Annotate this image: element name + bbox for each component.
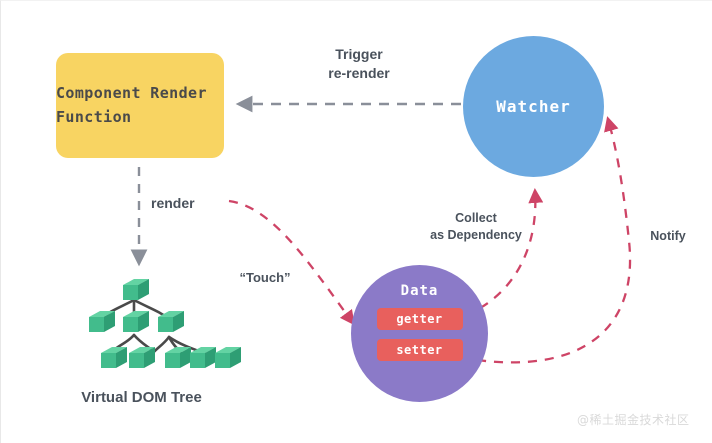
cube-leaf-5 [215,347,241,368]
data-node[interactable]: Data getter setter [351,265,488,402]
cube-leaf-3 [165,347,191,368]
edge-label-notify: Notify [639,228,697,245]
edge-label-touch: “Touch” [223,269,307,287]
setter-pill[interactable]: setter [377,339,463,361]
cube-l1-b [123,311,149,332]
watermark: @稀土掘金技术社区 [577,411,690,428]
cube-leaf-2 [129,347,155,368]
cube-root [123,279,149,300]
virtual-dom-tree-label: Virtual DOM Tree [59,388,224,409]
cube-leaf-1 [101,347,127,368]
data-node-label: Data [401,283,439,299]
tree-links [101,300,204,353]
diagram-canvas: Component Render Function Watcher Data g… [0,0,712,443]
getter-pill[interactable]: getter [377,308,463,330]
edge-label-collect-as-dependency: Collect as Dependency [419,210,533,245]
edge-label-render: render [151,194,231,213]
tree-cubes [89,279,241,368]
watcher-node[interactable]: Watcher [463,36,604,177]
edge-label-trigger-re-render: Trigger re-render [297,45,421,84]
component-render-function-box[interactable]: Component Render Function [56,53,224,158]
cube-l1-a [89,311,115,332]
